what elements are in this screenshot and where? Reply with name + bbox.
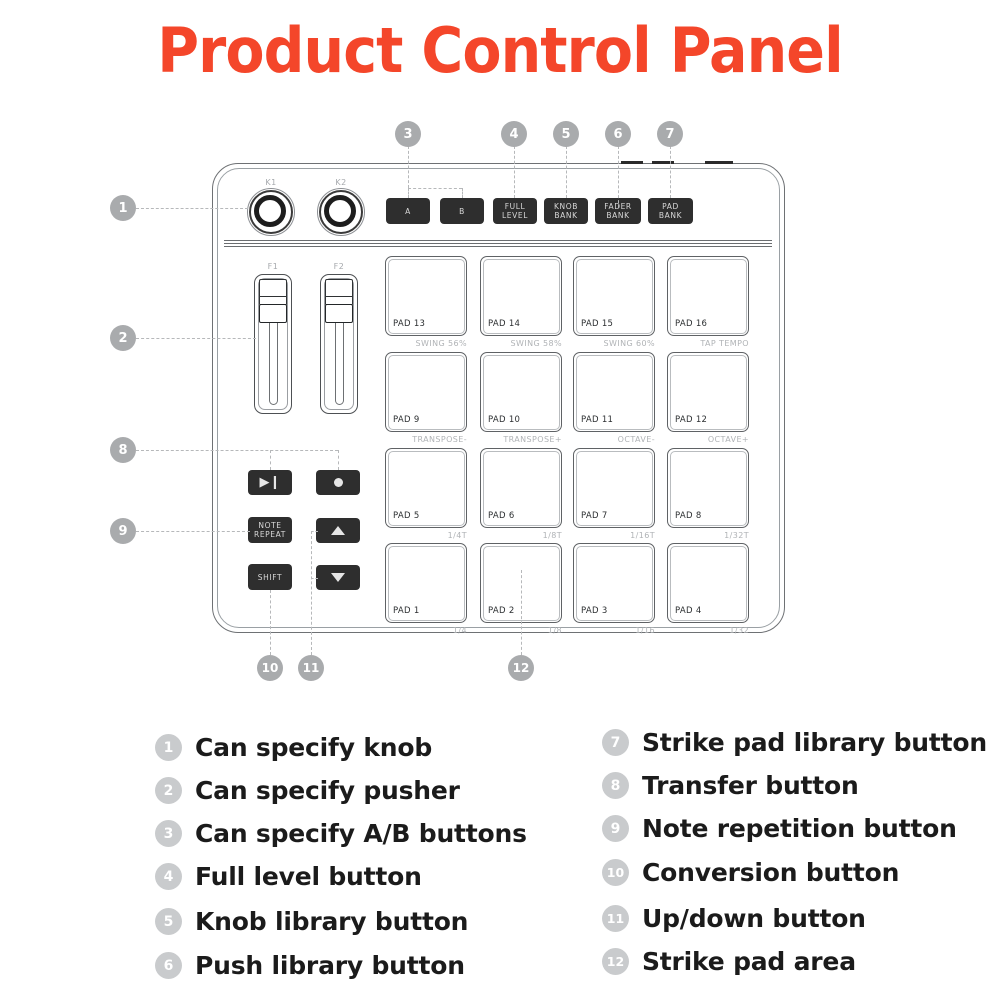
leader-line-11-branch-down — [311, 578, 318, 579]
fader-f1-handle[interactable] — [259, 279, 287, 323]
pad-11-sublabel: OCTAVE- — [575, 435, 655, 444]
legend-text-3: Can specify A/B buttons — [195, 819, 527, 848]
button-up[interactable] — [316, 518, 360, 543]
legend-item-3: 3 Can specify A/B buttons — [155, 819, 527, 848]
leader-line-10 — [270, 590, 271, 655]
legend-item-9: 9 Note repetition button — [602, 814, 957, 843]
button-shift-label: SHIFT — [258, 573, 282, 582]
fader-label-f1: F1 — [254, 262, 292, 271]
callout-badge-2: 2 — [110, 325, 136, 351]
button-pad-bank[interactable]: PAD BANK — [648, 198, 693, 224]
knob-label-k2: K2 — [319, 178, 363, 187]
legend-badge-3: 3 — [155, 820, 182, 847]
arrow-down-icon — [331, 573, 345, 582]
legend-text-11: Up/down button — [642, 904, 866, 933]
record-icon — [334, 478, 343, 487]
pad-4[interactable]: PAD 4 — [667, 543, 749, 623]
pad-10-sublabel: TRANSPOSE+ — [482, 435, 562, 444]
knob-k2[interactable] — [319, 190, 363, 234]
pad-16-sublabel: TAP TEMPO — [669, 339, 749, 348]
legend-text-8: Transfer button — [642, 771, 859, 800]
button-knob-bank[interactable]: KNOB BANK — [544, 198, 588, 224]
pad-13[interactable]: PAD 13 — [385, 256, 467, 336]
pad-3-label: PAD 3 — [581, 606, 608, 616]
callout-badge-5: 5 — [553, 121, 579, 147]
button-note-repeat[interactable]: NOTE REPEAT — [248, 517, 292, 543]
legend-badge-7: 7 — [602, 729, 629, 756]
arrow-up-icon — [331, 526, 345, 535]
pad-14-sublabel: SWING 58% — [482, 339, 562, 348]
leader-line-6 — [618, 146, 619, 208]
button-full-level-label-2: LEVEL — [502, 211, 528, 221]
button-a-label: A — [405, 207, 411, 216]
pad-16[interactable]: PAD 16 — [667, 256, 749, 336]
legend-item-7: 7 Strike pad library button — [602, 728, 987, 757]
device-top-edge-tab — [621, 161, 643, 164]
pad-12[interactable]: PAD 12 — [667, 352, 749, 432]
button-note-repeat-label-2: REPEAT — [254, 530, 286, 540]
leader-line-3-stem — [408, 146, 409, 188]
legend-item-2: 2 Can specify pusher — [155, 776, 460, 805]
leader-line-3-bracket — [408, 188, 462, 189]
legend-text-9: Note repetition button — [642, 814, 957, 843]
leader-line-9 — [136, 531, 250, 532]
pad-12-label: PAD 12 — [675, 415, 707, 425]
callout-badge-1: 1 — [110, 195, 136, 221]
leader-line-8 — [136, 450, 338, 451]
pad-6-sublabel: 1/8T — [482, 531, 562, 540]
legend-item-12: 12 Strike pad area — [602, 947, 856, 976]
legend-item-10: 10 Conversion button — [602, 858, 899, 887]
leader-line-4 — [514, 146, 515, 198]
pad-16-label: PAD 16 — [675, 319, 707, 329]
legend-text-2: Can specify pusher — [195, 776, 460, 805]
legend-badge-1: 1 — [155, 734, 182, 761]
legend-badge-4: 4 — [155, 863, 182, 890]
pad-10[interactable]: PAD 10 — [480, 352, 562, 432]
legend-item-4: 4 Full level button — [155, 862, 422, 891]
leader-line-1 — [136, 208, 248, 209]
button-down[interactable] — [316, 565, 360, 590]
button-full-level[interactable]: FULL LEVEL — [493, 198, 537, 224]
button-play-pause[interactable]: ▶❙ — [248, 470, 292, 495]
legend-text-7: Strike pad library button — [642, 728, 987, 757]
legend-badge-10: 10 — [602, 859, 629, 886]
callout-badge-6: 6 — [605, 121, 631, 147]
button-shift[interactable]: SHIFT — [248, 564, 292, 590]
pad-11[interactable]: PAD 11 — [573, 352, 655, 432]
device-top-edge-tab — [705, 161, 733, 164]
knob-label-k1: K1 — [249, 178, 293, 187]
legend: 1 Can specify knob 2 Can specify pusher … — [0, 700, 1000, 1000]
legend-item-6: 6 Push library button — [155, 951, 465, 980]
legend-text-5: Knob library button — [195, 907, 468, 936]
callout-badge-11: 11 — [298, 655, 324, 681]
pad-11-label: PAD 11 — [581, 415, 613, 425]
button-knob-bank-label-1: KNOB — [554, 202, 578, 212]
legend-badge-2: 2 — [155, 777, 182, 804]
pad-6[interactable]: PAD 6 — [480, 448, 562, 528]
leader-line-5 — [566, 146, 567, 198]
callout-badge-12: 12 — [508, 655, 534, 681]
pad-12-sublabel: OCTAVE+ — [669, 435, 749, 444]
legend-item-5: 5 Knob library button — [155, 907, 468, 936]
button-b-label: B — [459, 207, 465, 216]
pad-10-label: PAD 10 — [488, 415, 520, 425]
button-full-level-label-1: FULL — [505, 202, 526, 212]
leader-line-11-branch-up — [311, 531, 318, 532]
pad-7[interactable]: PAD 7 — [573, 448, 655, 528]
legend-item-11: 11 Up/down button — [602, 904, 866, 933]
leader-line-7 — [670, 146, 671, 198]
legend-text-4: Full level button — [195, 862, 422, 891]
pad-15[interactable]: PAD 15 — [573, 256, 655, 336]
callout-badge-10: 10 — [257, 655, 283, 681]
pad-2-label: PAD 2 — [488, 606, 515, 616]
fader-f2-handle[interactable] — [325, 279, 353, 323]
button-note-repeat-label-1: NOTE — [258, 521, 281, 531]
pad-15-label: PAD 15 — [581, 319, 613, 329]
pad-1-label: PAD 1 — [393, 606, 420, 616]
pad-6-label: PAD 6 — [488, 511, 515, 521]
pad-3-sublabel: 1/16 — [575, 626, 655, 635]
legend-item-1: 1 Can specify knob — [155, 733, 432, 762]
legend-badge-12: 12 — [602, 948, 629, 975]
pad-7-label: PAD 7 — [581, 511, 608, 521]
pad-8[interactable]: PAD 8 — [667, 448, 749, 528]
leader-line-8-branch-play — [270, 450, 271, 470]
pad-8-sublabel: 1/32T — [669, 531, 749, 540]
pad-1[interactable]: PAD 1 — [385, 543, 467, 623]
button-b[interactable]: B — [440, 198, 484, 224]
callout-badge-4: 4 — [501, 121, 527, 147]
legend-text-1: Can specify knob — [195, 733, 432, 762]
pad-14[interactable]: PAD 14 — [480, 256, 562, 336]
callout-badge-7: 7 — [657, 121, 683, 147]
pad-5-sublabel: 1/4T — [387, 531, 467, 540]
fader-label-f2: F2 — [320, 262, 358, 271]
pad-15-sublabel: SWING 60% — [575, 339, 655, 348]
button-record[interactable] — [316, 470, 360, 495]
pad-14-label: PAD 14 — [488, 319, 520, 329]
legend-badge-5: 5 — [155, 908, 182, 935]
legend-text-12: Strike pad area — [642, 947, 856, 976]
panel-separator — [224, 240, 772, 250]
play-pause-icon: ▶❙ — [260, 476, 281, 489]
pad-13-label: PAD 13 — [393, 319, 425, 329]
leader-line-11 — [311, 531, 312, 655]
pad-9-sublabel: TRANSPOSE- — [387, 435, 467, 444]
callout-badge-9: 9 — [110, 518, 136, 544]
leader-line-3-branch-a — [408, 188, 409, 198]
legend-badge-8: 8 — [602, 772, 629, 799]
legend-text-6: Push library button — [195, 951, 465, 980]
leader-line-3-branch-b — [462, 188, 463, 198]
pad-5-label: PAD 5 — [393, 511, 420, 521]
leader-line-8-branch-record — [338, 450, 339, 470]
pad-2-sublabel: 1/8 — [482, 626, 562, 635]
legend-badge-6: 6 — [155, 952, 182, 979]
button-a[interactable]: A — [386, 198, 430, 224]
pad-7-sublabel: 1/16T — [575, 531, 655, 540]
pad-9[interactable]: PAD 9 — [385, 352, 467, 432]
leader-line-2 — [136, 338, 256, 339]
legend-badge-11: 11 — [602, 905, 629, 932]
pad-3[interactable]: PAD 3 — [573, 543, 655, 623]
leader-line-12 — [521, 570, 522, 655]
button-fader-bank-label-2: BANK — [606, 211, 629, 221]
pad-4-label: PAD 4 — [675, 606, 702, 616]
pad-9-label: PAD 9 — [393, 415, 420, 425]
legend-item-8: 8 Transfer button — [602, 771, 859, 800]
pad-1-sublabel: 1/4 — [387, 626, 467, 635]
callout-badge-8: 8 — [110, 437, 136, 463]
callout-badge-3: 3 — [395, 121, 421, 147]
pad-8-label: PAD 8 — [675, 511, 702, 521]
button-pad-bank-label-2: BANK — [659, 211, 682, 221]
pad-5[interactable]: PAD 5 — [385, 448, 467, 528]
knob-k1[interactable] — [249, 190, 293, 234]
device-diagram: K1 K2 A B FULL LEVEL KNOB BANK FADER BAN… — [0, 0, 1000, 700]
button-knob-bank-label-2: BANK — [554, 211, 577, 221]
legend-badge-9: 9 — [602, 815, 629, 842]
legend-text-10: Conversion button — [642, 858, 899, 887]
pad-4-sublabel: 1/32 — [669, 626, 749, 635]
button-pad-bank-label-1: PAD — [662, 202, 679, 212]
pad-13-sublabel: SWING 56% — [387, 339, 467, 348]
